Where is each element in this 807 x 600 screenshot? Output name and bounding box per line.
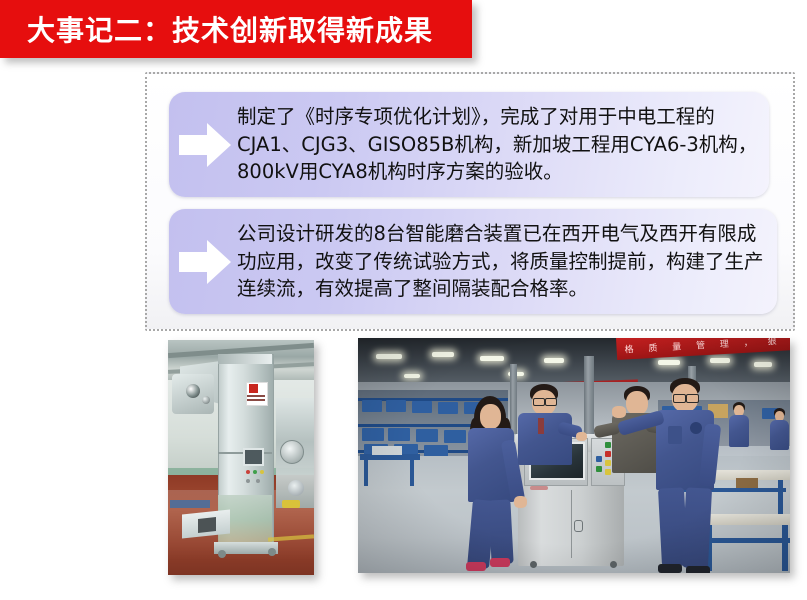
page-title: 大事记二：技术创新取得新成果 [27, 9, 433, 49]
slide-header-bar: 大事记二：技术创新取得新成果 [0, 0, 472, 58]
bullet-item-2: 公司设计研发的8台智能磨合装置已在西开电气及西开有限成功应用，改变了传统试验方式… [169, 209, 777, 314]
bullet-item-2-text: 公司设计研发的8台智能磨合装置已在西开电气及西开有限成功应用，改变了传统试验方式… [237, 220, 777, 303]
bullet-item-1: 制定了《时序专项优化计划》，完成了对用于中电工程的CJA1、CJG3、GISO8… [169, 92, 769, 197]
arrow-right-icon [177, 118, 233, 172]
photo-team: 严 格 质 量 管 理 ， 狠 抓 [358, 338, 790, 573]
content-frame: 制定了《时序专项优化计划》，完成了对用于中电工程的CJA1、CJG3、GISO8… [145, 72, 795, 331]
photo-equipment [168, 340, 314, 575]
bullet-item-1-text: 制定了《时序专项优化计划》，完成了对用于中电工程的CJA1、CJG3、GISO8… [237, 103, 769, 186]
arrow-right-icon [177, 235, 233, 289]
